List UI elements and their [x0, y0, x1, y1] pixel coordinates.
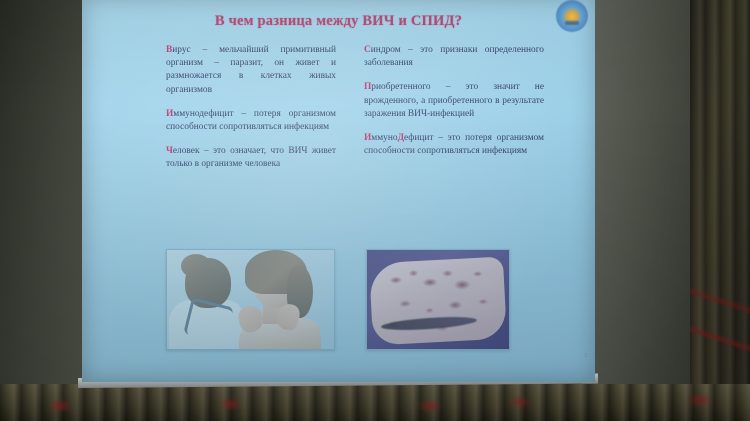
definition-virus: Вирус – мельчайший примитивный организм …	[166, 44, 336, 97]
photo-skin-rash	[366, 249, 510, 350]
wall-left	[0, 0, 86, 392]
definition-immunodeficiency: Иммунодефицит – потеря организмом способ…	[166, 108, 336, 134]
definition-text: риобретенного – это значит не врожденног…	[364, 82, 544, 118]
accent-letter: С	[364, 45, 371, 55]
definition-human: Человек – это означает, что ВИЧ живет то…	[166, 145, 336, 171]
definition-acquired: Приобретенного – это значит не врожденно…	[364, 81, 544, 121]
definition-text: ммунодефицит – потеря организмом способн…	[166, 109, 336, 132]
curtain-right	[690, 0, 750, 421]
slide-column-left: Вирус – мельчайший примитивный организм …	[166, 44, 336, 172]
lecture-room-photo: В чем разница между ВИЧ и СПИД? Вирус – …	[0, 0, 750, 421]
definition-immunodeficiency-aids: ИммуноДефицит – это потеря организмом сп…	[364, 132, 544, 158]
definition-syndrome: Синдром – это признаки определенного заб…	[364, 44, 544, 70]
definition-text: ирус – мельчайший примитивный организм –…	[166, 45, 336, 95]
photo-color-tint	[167, 250, 334, 349]
organization-emblem-icon	[556, 0, 588, 32]
accent-letter: Ч	[166, 146, 173, 156]
curtain-bottom	[0, 384, 750, 421]
photo-color-tint	[367, 250, 509, 349]
photo-clinical-neck-exam	[166, 249, 335, 350]
definition-text: еловек – это означает, что ВИЧ живет тол…	[166, 146, 336, 169]
slide-column-right: Синдром – это признаки определенного заб…	[364, 44, 544, 158]
projected-slide: В чем разница между ВИЧ и СПИД? Вирус – …	[82, 0, 595, 382]
definition-text: индром – это признаки определенного забо…	[364, 45, 544, 68]
definition-text: ммуно	[371, 133, 397, 143]
slide-number: 3	[584, 353, 587, 359]
slide-title: В чем разница между ВИЧ и СПИД?	[82, 13, 595, 30]
